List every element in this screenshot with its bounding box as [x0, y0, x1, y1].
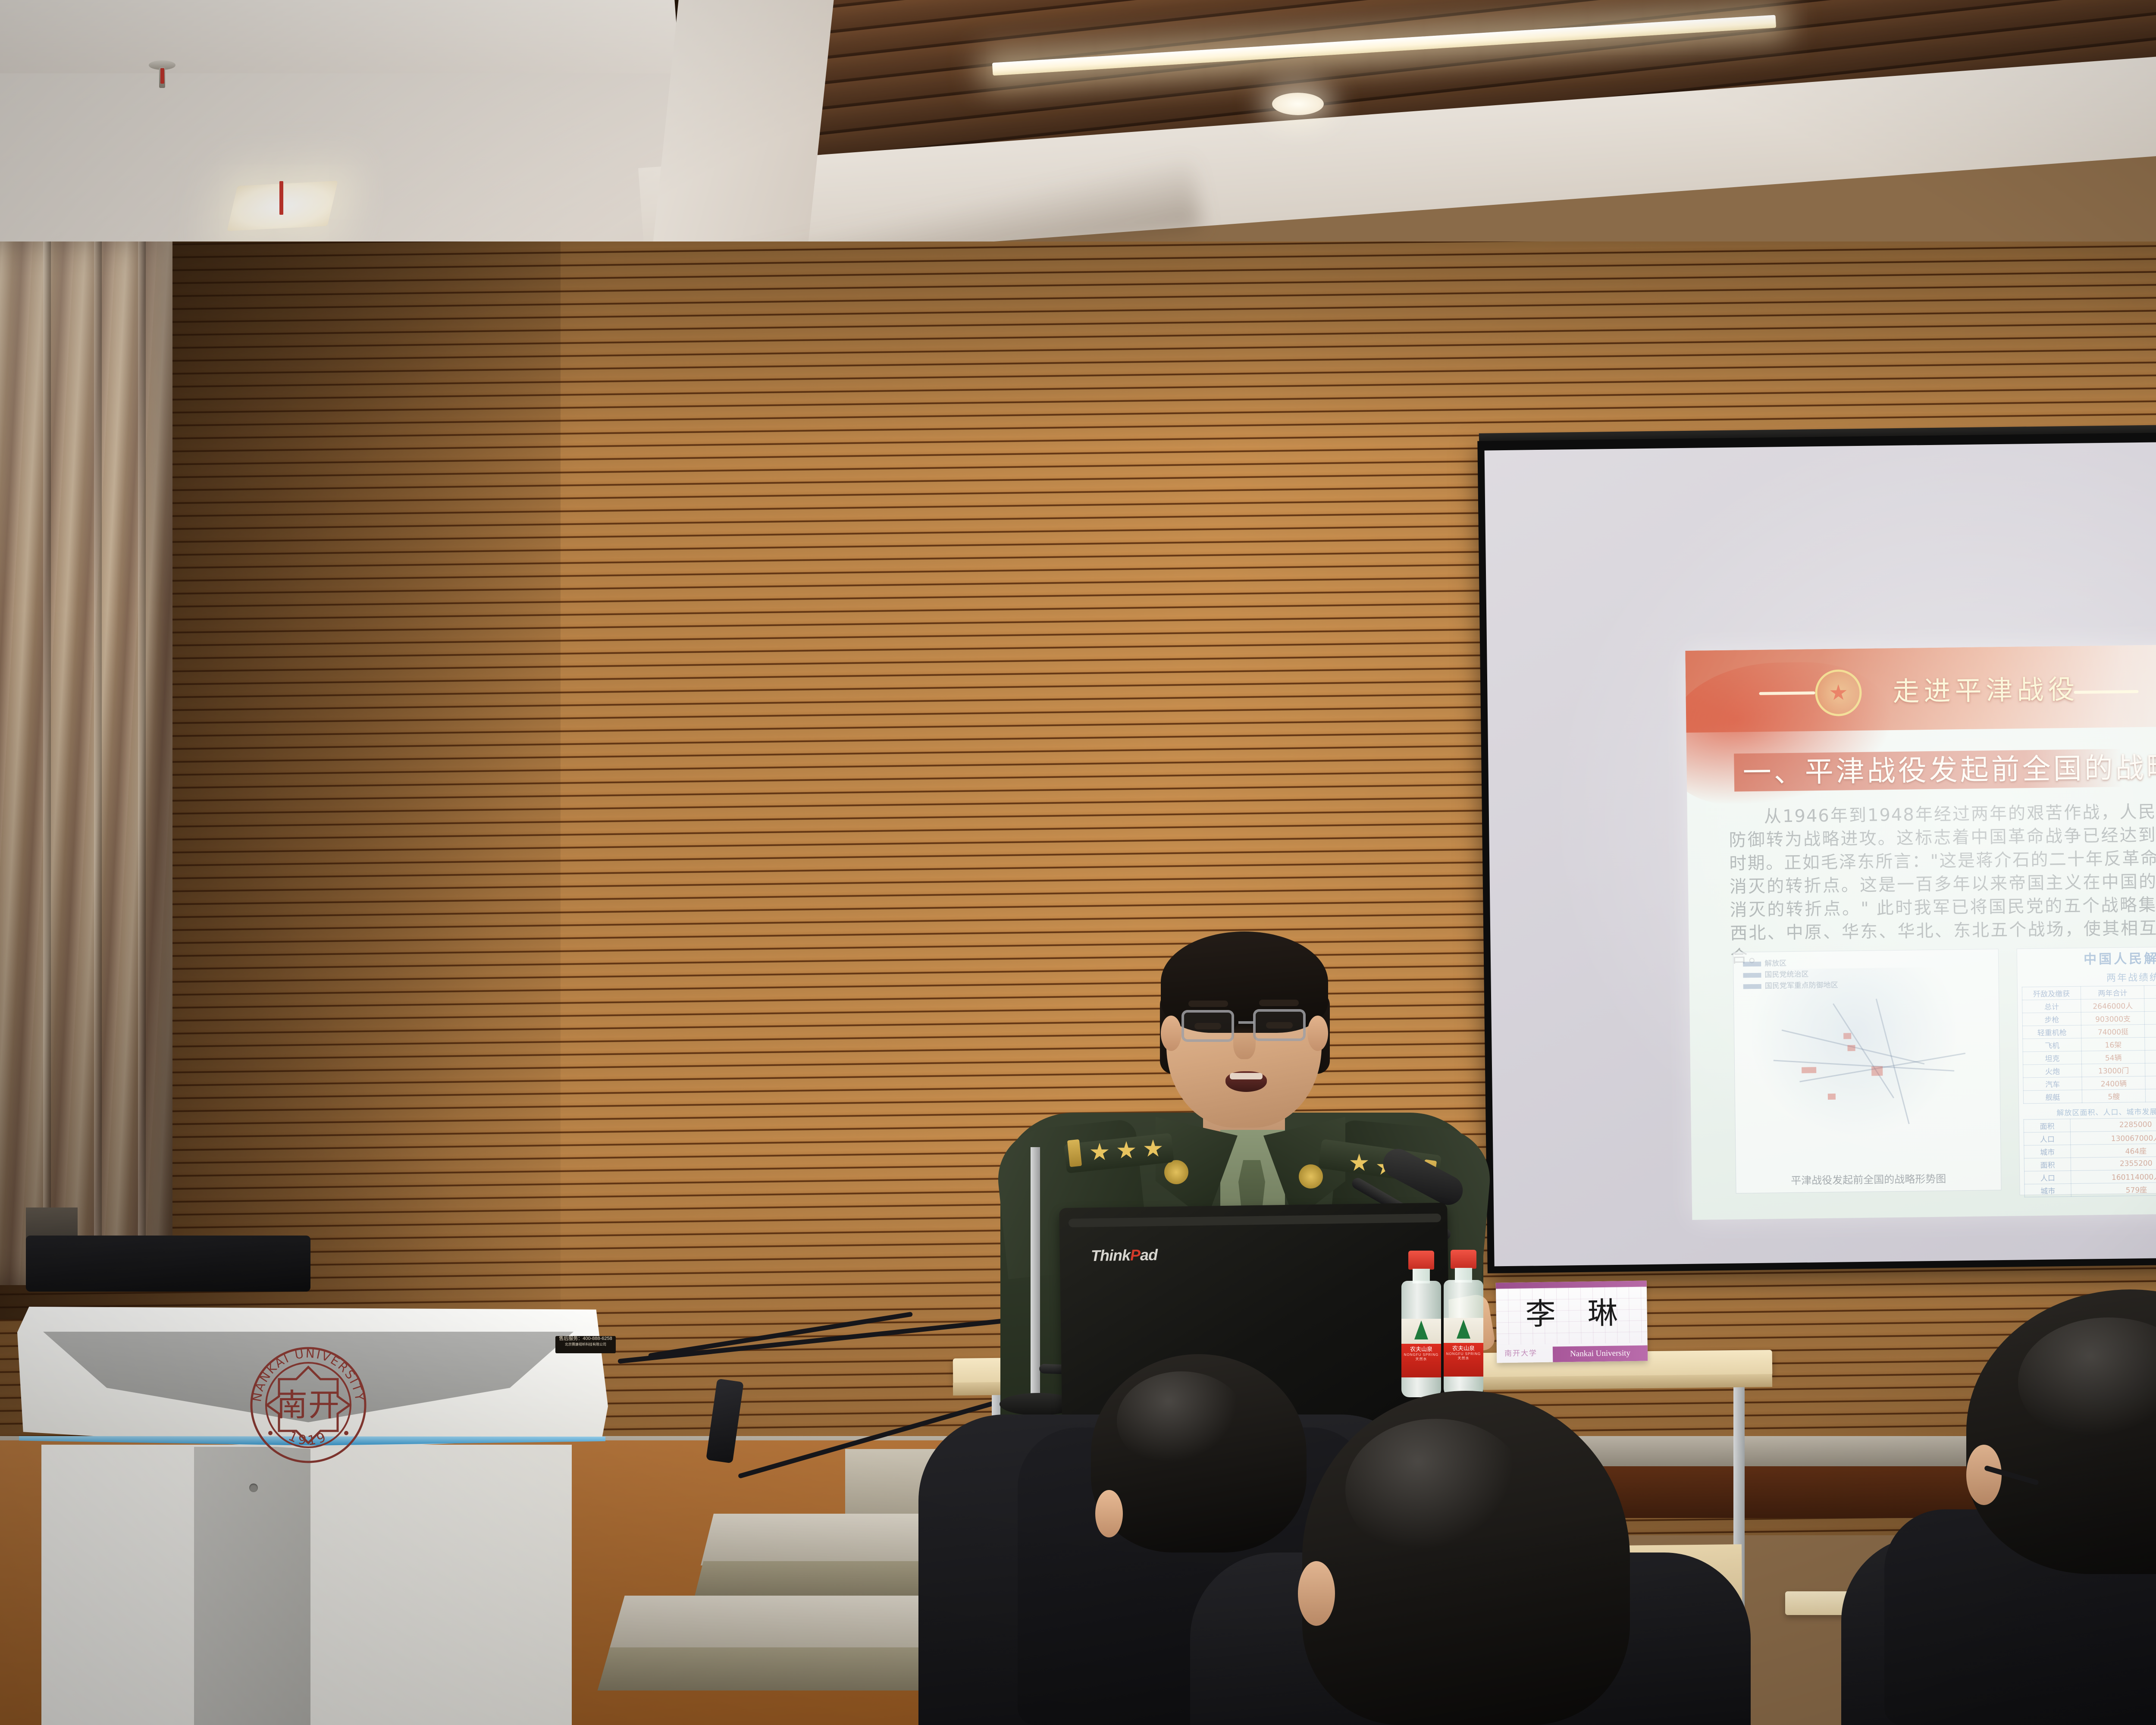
- water-bottle[interactable]: 农夫山泉 NONGFU SPRING 天然水: [1401, 1251, 1441, 1397]
- slide-map-marker: [1828, 1094, 1836, 1100]
- slide-map-figure: 解放区 国民党统治区 国民党军重点防御地区 平津战役发起前全国的战略形势图: [1733, 949, 2002, 1193]
- sprinkler-bulb: [160, 68, 164, 84]
- slide-stat-table-figure: 中国人民解放战争 两年战绩统计表 歼敌及缴获 两年合计 人民解放军 兵力发展 总…: [2017, 945, 2156, 1195]
- curtain-fold: [138, 241, 146, 1285]
- slide-map-marker: [1843, 1033, 1851, 1039]
- slide-map-marker: [1847, 1045, 1855, 1051]
- slide-stat-table-lower: 面积 2285000 23.8% 人口 130067000人 28.6% 城市 …: [2024, 1116, 2156, 1197]
- bottle-label-brand: 农夫山泉 NONGFU SPRING 天然水: [1401, 1344, 1441, 1377]
- slide-body-text: 从1946年到1948年经过两年的艰苦作战，人民解放军由战略防御转为战略进攻。这…: [1729, 799, 2156, 968]
- speaker-eyebrow-left: [1188, 1000, 1228, 1007]
- curtain-fold: [94, 241, 102, 1285]
- stage-step-lower: [608, 1596, 952, 1652]
- laptop-bag: [26, 1236, 310, 1292]
- water-bottle[interactable]: 农夫山泉 NONGFU SPRING 天然水: [1444, 1250, 1483, 1396]
- audience-ear: [1095, 1490, 1123, 1537]
- bottle-cap: [1408, 1251, 1434, 1270]
- podium-cabinet-lock[interactable]: [249, 1483, 258, 1492]
- speaker-eye-left: [1194, 1023, 1221, 1029]
- slide-map-marker: [1802, 1067, 1816, 1073]
- table-row: 飞机 16架 野战军 1560000人: [2023, 1036, 2156, 1052]
- nankai-university-seal: NANKAI UNIVERSITY 1919 南开: [244, 1340, 373, 1470]
- collar-insignia-left: [1164, 1160, 1188, 1184]
- slide-stat-subtitle: 两年战绩统计表: [2021, 968, 2156, 985]
- table-row: 步枪 903000支 地方部队 1360000人: [2022, 1010, 2156, 1026]
- slide-map-marker: [1871, 1066, 1883, 1076]
- speaker-ear-right: [1307, 1016, 1328, 1051]
- podium-service-tag: 售后服务：400-888-6258 北京赛康视听科技有限公司: [555, 1336, 616, 1353]
- university-name: Nankai University: [1553, 1345, 1648, 1362]
- slide-stat-table-upper: 歼敌及缴获 两年合计 人民解放军 兵力发展 总计 2646000人 野战军 14…: [2022, 984, 2156, 1104]
- projected-slide: 走进平津战役 一、平津战役发起前全国的战略形势 从1946年到1948年经过两年…: [1685, 643, 2156, 1220]
- speaker-ear-left: [1161, 1016, 1181, 1051]
- audience-ear: [1966, 1445, 2002, 1505]
- audience-hair-highlight: [1345, 1419, 1526, 1561]
- table-row: 总计 2646000人 野战军 1490000人: [2022, 997, 2156, 1013]
- side-curtain: [0, 241, 172, 1285]
- bottle-cap: [1451, 1250, 1476, 1269]
- curtain-fold: [43, 241, 51, 1285]
- speaker-name: 李 琳: [1496, 1295, 1647, 1332]
- table-row: 面积 2285000 23.8%: [2024, 1117, 2156, 1132]
- table-row: 火炮 13000门 总兵力 300万: [2023, 1062, 2156, 1078]
- table-row: 舰艇 5艘: [2023, 1088, 2156, 1104]
- slide-stat-title: 中国人民解放战争: [2021, 950, 2156, 969]
- audience-ear: [1298, 1561, 1335, 1626]
- speaker-teeth: [1230, 1073, 1263, 1079]
- recessed-downlight: [1272, 93, 1324, 115]
- table-row: 城市 464座 23%: [2024, 1142, 2156, 1158]
- slide-map-legend: 解放区 国民党统治区 国民党军重点防御地区: [1743, 957, 1838, 992]
- slide-map-caption: 平津战役发起前全国的战略形势图: [1736, 1170, 2001, 1188]
- table-row: 汽车 2400辆: [2023, 1075, 2156, 1091]
- panel-light-tag: [279, 181, 283, 215]
- table-row: 面积 2355200 24.5%: [2024, 1155, 2156, 1171]
- svg-text:南开: 南开: [276, 1387, 340, 1423]
- projection-screen-surface: 走进平津战役 一、平津战役发起前全国的战略形势 从1946年到1948年经过两年…: [1485, 440, 2156, 1267]
- table-row: 人口 160114000人 35%: [2024, 1168, 2156, 1184]
- lecture-hall-photo: 走进平津战役 一、平津战役发起前全国的战略形势 从1946年到1948年经过两年…: [0, 0, 2156, 1725]
- microphone-stand[interactable]: [1031, 1147, 1040, 1406]
- slide-section-title: 一、平津战役发起前全国的战略形势: [1742, 750, 2156, 790]
- speaker-name-card: 李 琳 南开大学 Nankai University: [1496, 1281, 1648, 1363]
- audience-hair-highlight: [1117, 1371, 1246, 1471]
- table-row: 坦克 54辆 地方部队 1440000人: [2023, 1049, 2156, 1065]
- thinkpad-logo: ThinkPad: [1091, 1246, 1158, 1265]
- speaker-eye-right: [1266, 1022, 1293, 1029]
- slide-stat-bottom-header: 解放区面积、人口、城市发展（两年前后数字对比）: [2023, 1104, 2156, 1118]
- speaker-eyebrow-right: [1259, 1000, 1299, 1006]
- nankai-logo-text: 南开大学: [1504, 1346, 1561, 1360]
- bottle-label-brand: 农夫山泉 NONGFU SPRING 天然水: [1444, 1343, 1483, 1377]
- table-row: 歼敌及缴获 两年合计 人民解放军 兵力发展: [2022, 984, 2156, 1000]
- stage-step-face-lower: [598, 1647, 946, 1690]
- speaker-nose: [1233, 1022, 1256, 1059]
- table-row: 轻重机枪 74000挺 总兵力 280万: [2022, 1023, 2156, 1039]
- collar-insignia-right: [1299, 1164, 1323, 1189]
- projection-screen: 走进平津战役 一、平津战役发起前全国的战略形势 从1946年到1948年经过两年…: [1477, 430, 2156, 1273]
- table-row: 人口 130067000人 28.6%: [2024, 1129, 2156, 1145]
- slide-header-title: 走进平津战役: [1893, 673, 2074, 709]
- table-row: 城市 579座 28.8%: [2024, 1181, 2156, 1197]
